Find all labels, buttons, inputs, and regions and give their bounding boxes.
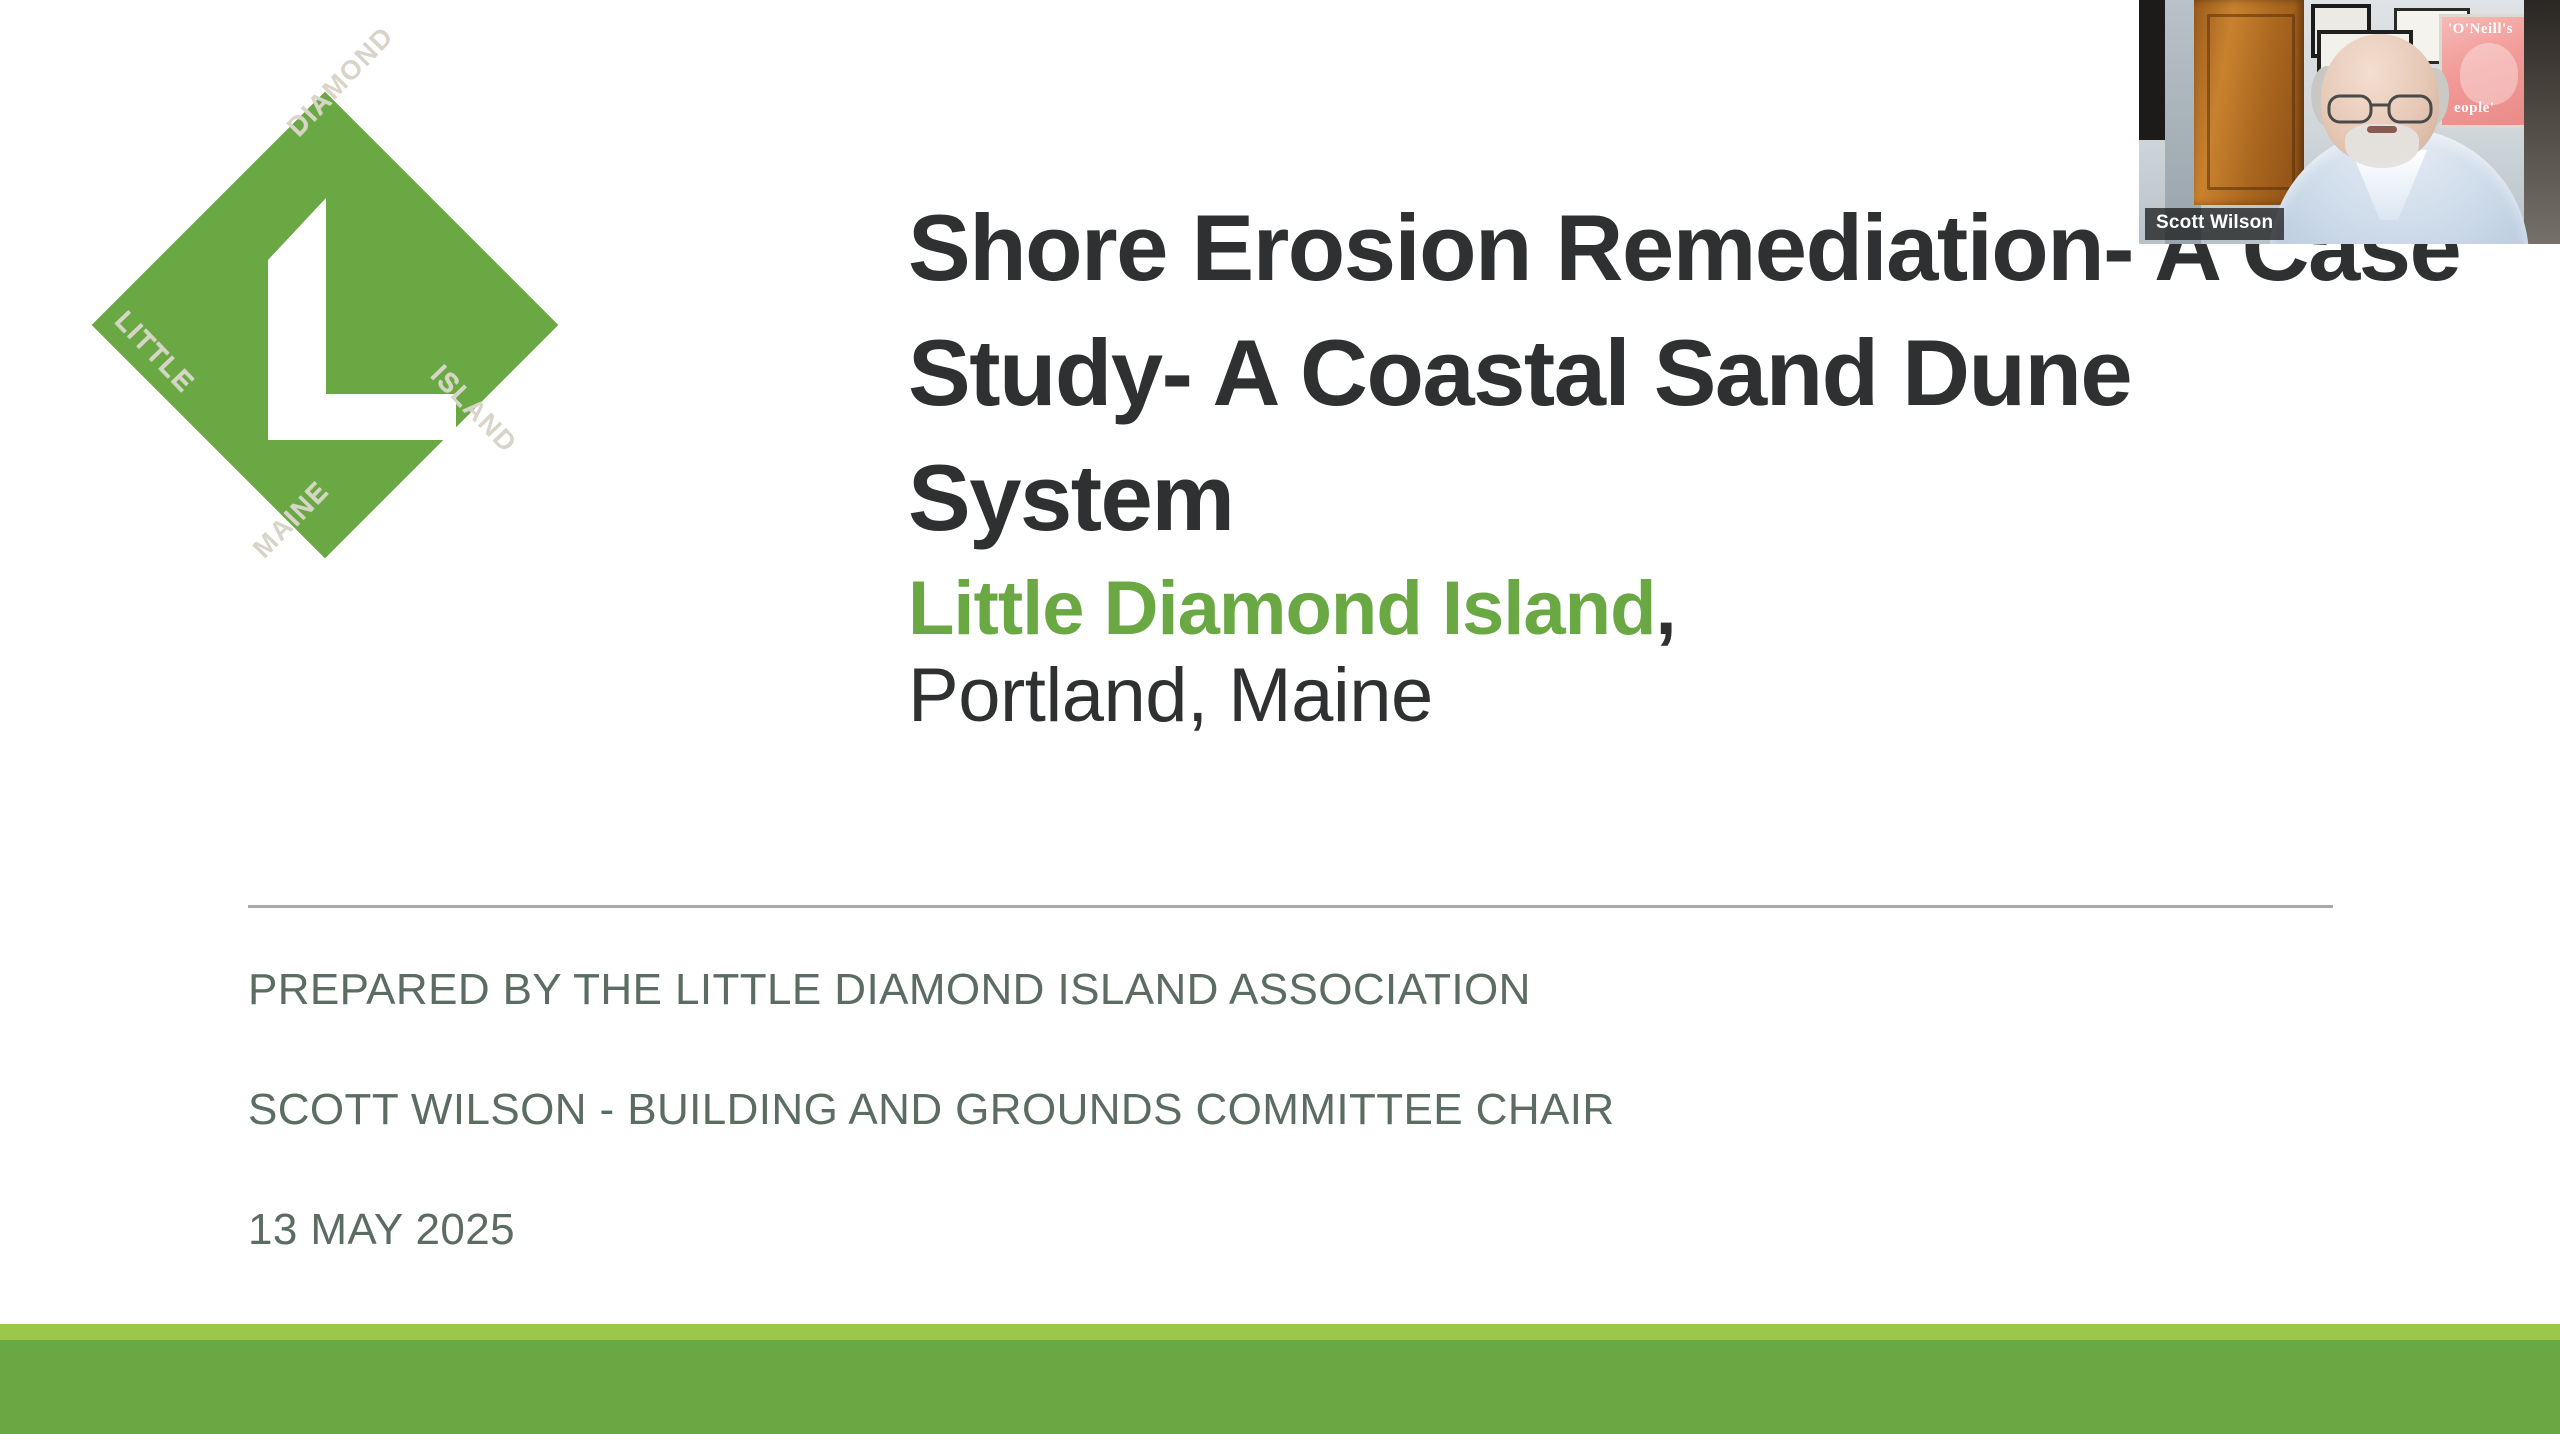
footer-bar — [0, 1324, 2560, 1434]
subtitle-island: Little Diamond Island, — [908, 566, 2468, 651]
webcam-right-wall — [2524, 0, 2560, 244]
footer-light-green-strip — [0, 1324, 2560, 1340]
presentation-slide: DIAMOND LITTLE ISLAND MAINE Shore Erosio… — [0, 0, 2560, 1434]
subtitle-city: Portland, Maine — [908, 653, 2468, 738]
webcam-cabinet-panel — [2207, 14, 2295, 190]
credit-line-prepared-by: PREPARED BY THE LITTLE DIAMOND ISLAND AS… — [248, 965, 2148, 1015]
glasses-icon — [2327, 92, 2433, 126]
horizontal-divider — [248, 905, 2333, 908]
webcam-door-jamb — [2139, 0, 2165, 140]
subtitle-comma: , — [1656, 566, 1676, 651]
webcam-person-mouth — [2367, 126, 2397, 133]
credits-block: PREPARED BY THE LITTLE DIAMOND ISLAND AS… — [248, 965, 2148, 1255]
webcam-participant-name-label: Scott Wilson — [2145, 208, 2284, 240]
slide-title-block: Shore Erosion Remediation- A Case Study-… — [908, 185, 2468, 738]
webcam-poster-title-bottom: eople' — [2454, 100, 2495, 117]
subtitle-island-text: Little Diamond Island — [908, 566, 1656, 651]
webcam-video-tile[interactable]: 'O'Neill's eople' Scott Wilson — [2139, 0, 2560, 244]
webcam-poster-title-top: 'O'Neill's — [2448, 21, 2513, 38]
footer-green-band — [0, 1340, 2560, 1434]
little-diamond-island-logo: DIAMOND LITTLE ISLAND MAINE — [95, 95, 555, 555]
credit-line-date: 13 MAY 2025 — [248, 1205, 2148, 1255]
credit-line-author: SCOTT WILSON - BUILDING AND GROUNDS COMM… — [248, 1085, 2148, 1135]
webcam-poster-face-art — [2460, 43, 2518, 105]
